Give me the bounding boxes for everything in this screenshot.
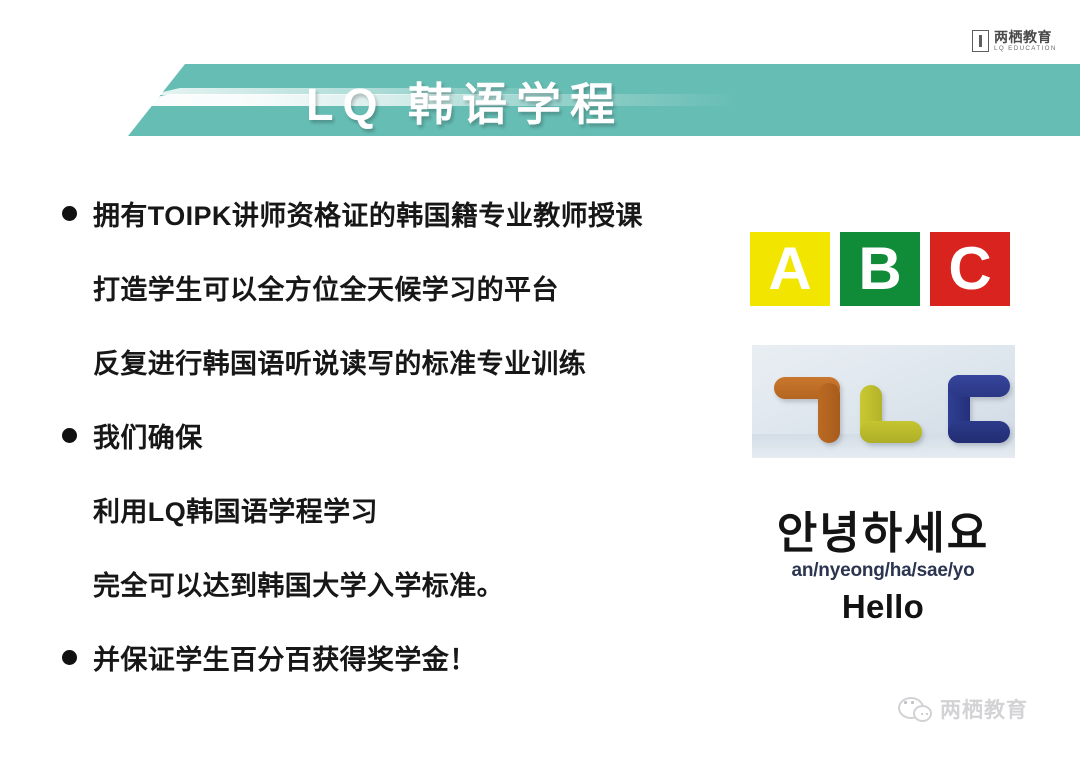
list-item: 打造学生可以全方位全天候学习的平台 [60,250,740,324]
title-banner: LQ 韩语学程 [0,64,1080,136]
header-logo-en: LQ EDUCATION [994,46,1057,52]
hangul-giyeok-icon [774,377,840,443]
list-item: 完全可以达到韩国大学入学标准。 [60,546,740,620]
wechat-icon [898,696,932,722]
watermark-text: 两栖教育 [940,694,1028,724]
header-logo-words: 两栖教育 LQ EDUCATION [994,30,1057,52]
list-item: 反复进行韩国语听说读写的标准专业训练 [60,324,740,398]
list-item-text: 打造学生可以全方位全天候学习的平台 [93,268,559,307]
abc-block-c: C [930,232,1010,306]
list-item-text: 拥有TOIPK讲师资格证的韩国籍专业教师授课 [93,194,643,233]
abc-block-a: A [750,232,830,306]
greeting-block: 안녕하세요 an/nyeong/ha/sae/yo Hello [750,510,1016,626]
slide-canvas: 两栖教育 LQ EDUCATION LQ 韩语学程 拥有TOIPK讲师资格证的韩… [0,0,1080,763]
header-logo: 两栖教育 LQ EDUCATION [972,26,1076,56]
greeting-english: Hello [750,588,1016,626]
bullet-list: 拥有TOIPK讲师资格证的韩国籍专业教师授课 打造学生可以全方位全天候学习的平台… [60,176,740,694]
bullet-dot-icon [62,428,77,443]
hangul-digeut-icon [948,375,1010,443]
list-item: 我们确保 [60,398,740,472]
abc-blocks-image: A B C [750,232,1010,306]
bracket-mark-icon [972,30,989,52]
greeting-korean: 안녕하세요 [750,510,1016,558]
list-item-text: 反复进行韩国语听说读写的标准专业训练 [93,342,586,381]
list-item-text: 并保证学生百分百获得奖学金！ [93,638,477,677]
greeting-romanization: an/nyeong/ha/sae/yo [750,560,1016,582]
abc-block-b: B [840,232,920,306]
list-item-text: 完全可以达到韩国大学入学标准。 [93,564,504,603]
list-item-text: 我们确保 [93,416,203,455]
list-item: 利用LQ韩国语学程学习 [60,472,740,546]
hangul-nieun-icon [860,385,922,443]
hangul-consonants-photo [752,345,1015,458]
list-item: 拥有TOIPK讲师资格证的韩国籍专业教师授课 [60,176,740,250]
header-logo-cn: 两栖教育 [994,30,1057,44]
bullet-dot-icon [62,650,77,665]
list-item-text: 利用LQ韩国语学程学习 [93,490,378,529]
bullet-dot-icon [62,206,77,221]
page-title: LQ 韩语学程 [0,64,1080,136]
list-item: 并保证学生百分百获得奖学金！ [60,620,740,694]
watermark: 两栖教育 [898,694,1028,724]
